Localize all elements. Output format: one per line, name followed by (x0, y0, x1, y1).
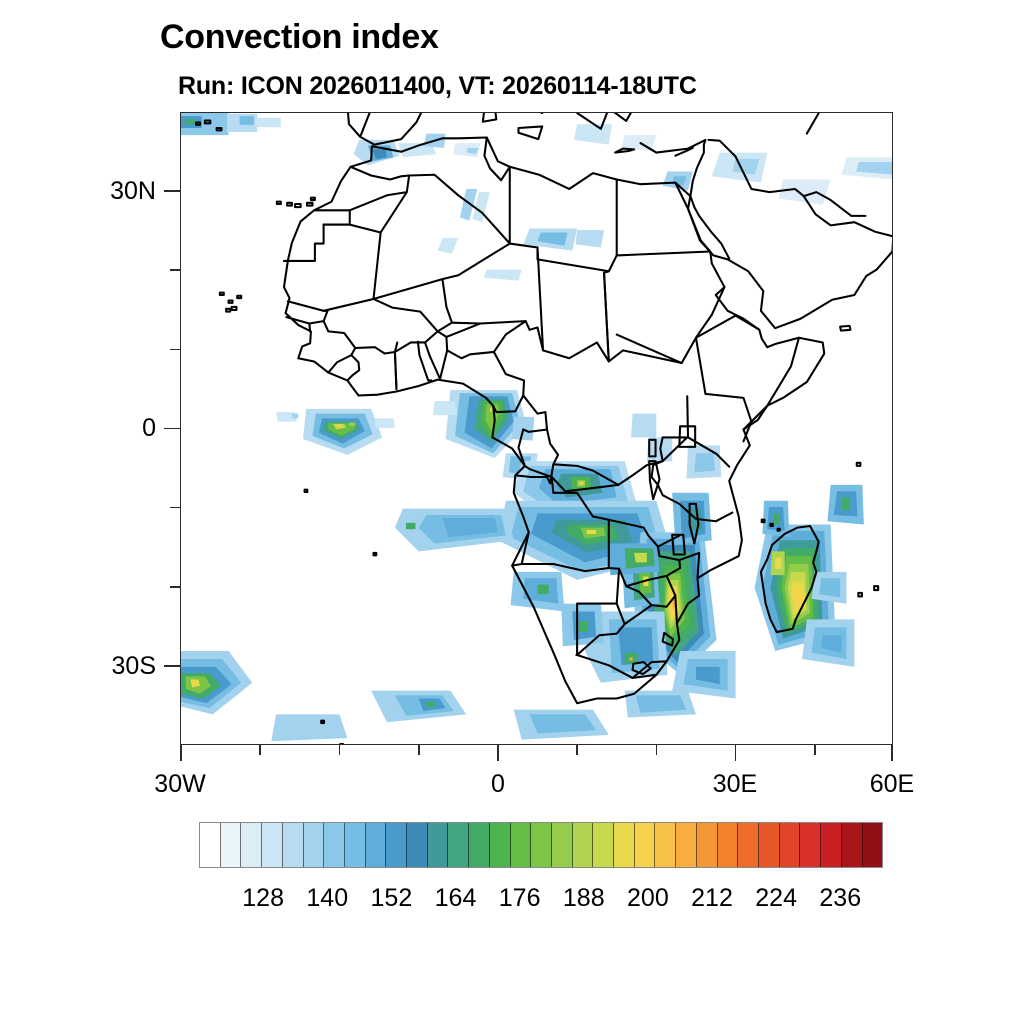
xtick-minor-4 (814, 745, 816, 755)
colorbar-cell (241, 823, 262, 867)
xtick-0 (497, 745, 499, 761)
ytick-30n (164, 190, 180, 192)
colorbar-cell (842, 823, 863, 867)
xtick-15e (656, 745, 658, 755)
xtick-minor-2 (418, 745, 420, 755)
colorbar-tick-label: 152 (371, 884, 413, 913)
colorbar-tick-label: 188 (563, 884, 605, 913)
xtick-label-30e: 30E (675, 770, 795, 799)
colorbar-cell (490, 823, 511, 867)
colorbar-cell (324, 823, 345, 867)
ytick-0 (164, 428, 180, 430)
page-title: Convection index (160, 18, 439, 57)
colorbar-cell (428, 823, 449, 867)
colorbar-cell (676, 823, 697, 867)
colorbar-tick-label: 224 (755, 884, 797, 913)
colorbar-cell (511, 823, 532, 867)
run-subtitle: Run: ICON 2026011400, VT: 20260114-18UTC (178, 72, 697, 101)
map-plot-area[interactable] (180, 112, 893, 745)
ytick-minor-b (170, 586, 180, 588)
colorbar-cell (283, 823, 304, 867)
colorbar-cell (635, 823, 656, 867)
colorbar-tick-label: 164 (435, 884, 477, 913)
colorbar-cell (718, 823, 739, 867)
colorbar-cell (448, 823, 469, 867)
colorbar-cell (386, 823, 407, 867)
xtick-minor-3 (576, 745, 578, 755)
colorbar-cell (800, 823, 821, 867)
colorbar-tick-label: 200 (627, 884, 669, 913)
colorbar-cell (262, 823, 283, 867)
colorbar-cell (614, 823, 635, 867)
xtick-30e (735, 745, 737, 761)
colorbar-tick-label: 140 (306, 884, 348, 913)
xtick-15w (339, 745, 341, 755)
colorbar-cell (655, 823, 676, 867)
colorbar-cell (200, 823, 221, 867)
colorbar-cell (552, 823, 573, 867)
colorbar-cell (304, 823, 325, 867)
xtick-60e (891, 745, 893, 761)
ytick-label-30s: 30S (48, 652, 156, 681)
ytick-label-30n: 30N (48, 177, 156, 206)
colorbar-cell (759, 823, 780, 867)
ytick-minor-a (170, 349, 180, 351)
ytick-15s (170, 507, 180, 509)
colorbar-cell (469, 823, 490, 867)
colorbar-tick-label: 236 (819, 884, 861, 913)
colorbar-tick-label: 212 (691, 884, 733, 913)
xtick-label-0: 0 (438, 770, 558, 799)
ytick-30s (164, 665, 180, 667)
map-icon (181, 113, 893, 745)
colorbar[interactable] (199, 822, 883, 868)
figure-canvas: Convection index Run: ICON 2026011400, V… (0, 0, 1024, 1024)
colorbar-cell (366, 823, 387, 867)
colorbar-tick-label: 176 (499, 884, 541, 913)
colorbar-cell (221, 823, 242, 867)
colorbar-cell (407, 823, 428, 867)
colorbar-cell (593, 823, 614, 867)
ytick-label-0: 0 (48, 414, 156, 443)
xtick-label-30w: 30W (120, 770, 240, 799)
colorbar-cell (780, 823, 801, 867)
colorbar-cell (573, 823, 594, 867)
colorbar-cell (531, 823, 552, 867)
colorbar-cell (738, 823, 759, 867)
ytick-15n (170, 269, 180, 271)
colorbar-tick-label: 128 (242, 884, 284, 913)
xtick-label-60e: 60E (832, 770, 952, 799)
colorbar-cell (345, 823, 366, 867)
xtick-minor-1 (259, 745, 261, 755)
xtick-30w (180, 745, 182, 761)
colorbar-cell (697, 823, 718, 867)
colorbar-cell (821, 823, 842, 867)
colorbar-cell (863, 823, 883, 867)
